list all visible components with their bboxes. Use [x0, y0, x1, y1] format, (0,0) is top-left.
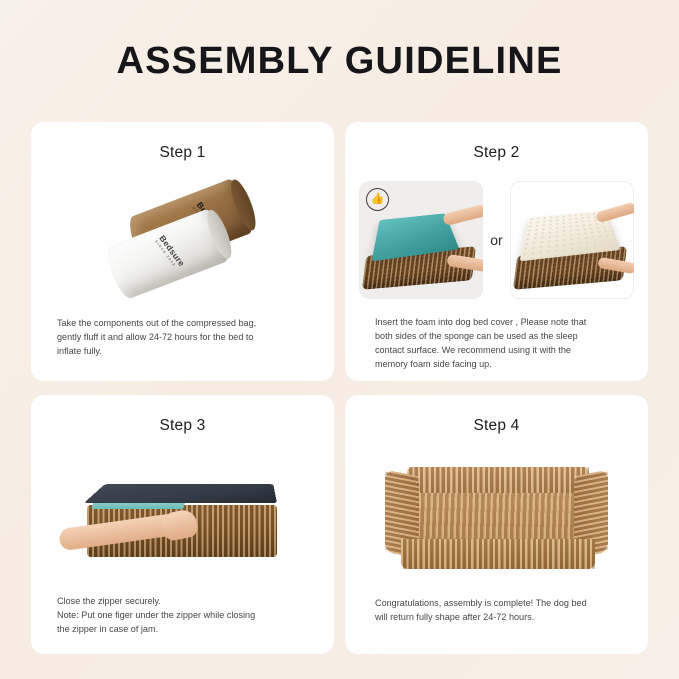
- step-card-4: Step 4 Congratulations, assembly: [345, 395, 648, 654]
- step-card-2: Step 2 👍 or: [345, 122, 648, 381]
- or-separator: or: [490, 232, 502, 248]
- bed-back-bolster: [407, 467, 589, 493]
- thumbs-up-icon: 👍: [366, 188, 389, 211]
- step-3-illustration: [31, 463, 334, 583]
- step-4-caption: Congratulations, assembly is complete! T…: [375, 596, 630, 624]
- step-3-title: Step 3: [31, 417, 334, 435]
- page-title: ASSEMBLY GUIDELINE: [0, 40, 679, 83]
- step-3-caption: Close the zipper securely. Note: Put one…: [57, 594, 314, 636]
- step-4-title: Step 4: [345, 417, 648, 435]
- step-1-title: Step 1: [31, 144, 334, 162]
- bed-front-edge: [401, 539, 595, 569]
- step-1-illustration: Bedsure SINCE 2013 Bedsure SINCE 2013: [31, 174, 334, 314]
- step-card-3: Step 3 Close the zipper securely. Note: …: [31, 395, 334, 654]
- hand-upper: [442, 204, 483, 226]
- step-1-caption: Take the components out of the compresse…: [57, 316, 314, 358]
- step-2-illustration: 👍 or: [359, 180, 634, 300]
- bed-seat: [407, 489, 589, 545]
- bag-end-cap: [226, 177, 260, 233]
- assembly-guideline-page: ASSEMBLY GUIDELINE Step 1 Bedsure SINCE …: [0, 0, 679, 679]
- brand-label: Bedsure SINCE 2013: [154, 233, 187, 270]
- corduroy-texture: [401, 539, 595, 569]
- step-2-title: Step 2: [345, 144, 648, 162]
- hand-upper: [595, 202, 634, 224]
- corduroy-texture: [407, 467, 589, 493]
- step-2-caption: Insert the foam into dog bed cover , Ple…: [375, 315, 632, 371]
- step-4-illustration: [345, 455, 648, 585]
- steps-grid: Step 1 Bedsure SINCE 2013 Bedsure SINCE …: [31, 122, 648, 648]
- corduroy-texture: [407, 489, 589, 545]
- bed-top-cover: [84, 484, 277, 503]
- memory-foam-egg-crate-option: [510, 181, 634, 299]
- teal-foam-side-option: 👍: [359, 181, 483, 299]
- step-card-1: Step 1 Bedsure SINCE 2013 Bedsure SINCE …: [31, 122, 334, 381]
